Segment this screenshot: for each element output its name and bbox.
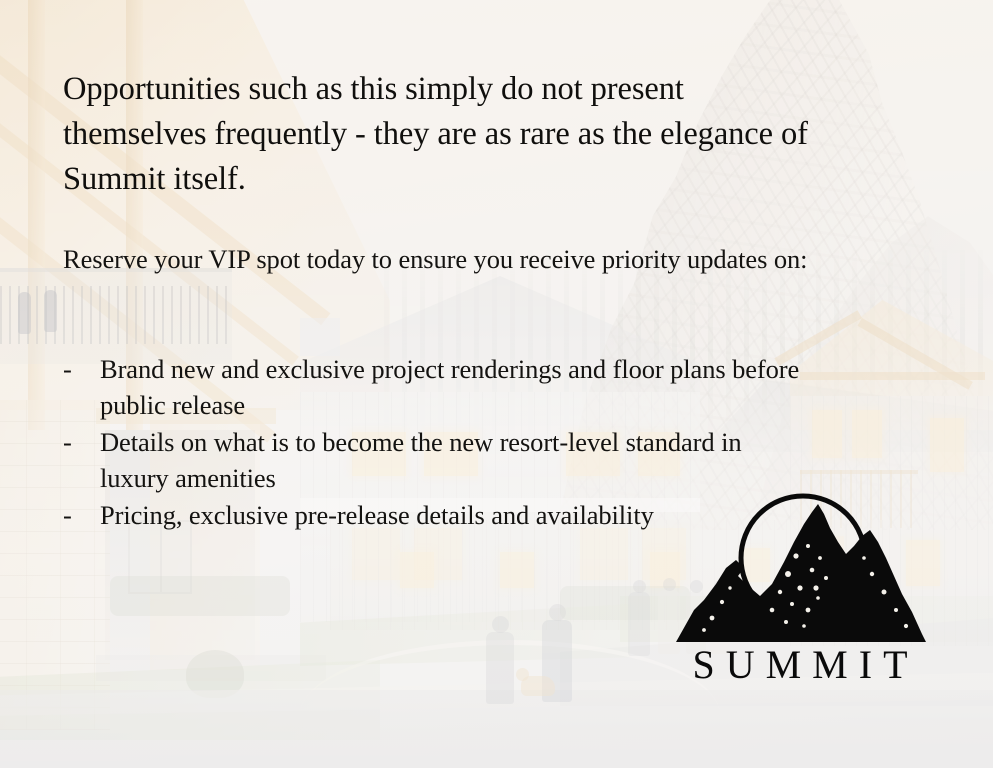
bullet-dash-icon: - [63, 424, 72, 460]
marketing-slide: Opportunities such as this simply do not… [0, 0, 993, 768]
list-item-label: Details on what is to become the new res… [100, 427, 741, 493]
bullet-dash-icon: - [63, 497, 72, 533]
slide-content: Opportunities such as this simply do not… [0, 0, 993, 768]
summit-logo: SUMMIT [660, 484, 940, 706]
subhead-text: Reserve your VIP spot today to ensure yo… [63, 241, 823, 278]
mountain-in-circle-icon [660, 484, 940, 644]
bullet-dash-icon: - [63, 351, 72, 387]
headline-text: Opportunities such as this simply do not… [63, 67, 823, 202]
list-item-label: Pricing, exclusive pre-release details a… [100, 500, 654, 530]
list-item-label: Brand new and exclusive project renderin… [100, 354, 799, 420]
list-item: - Brand new and exclusive project render… [63, 351, 803, 423]
summit-wordmark: SUMMIT [660, 642, 940, 688]
